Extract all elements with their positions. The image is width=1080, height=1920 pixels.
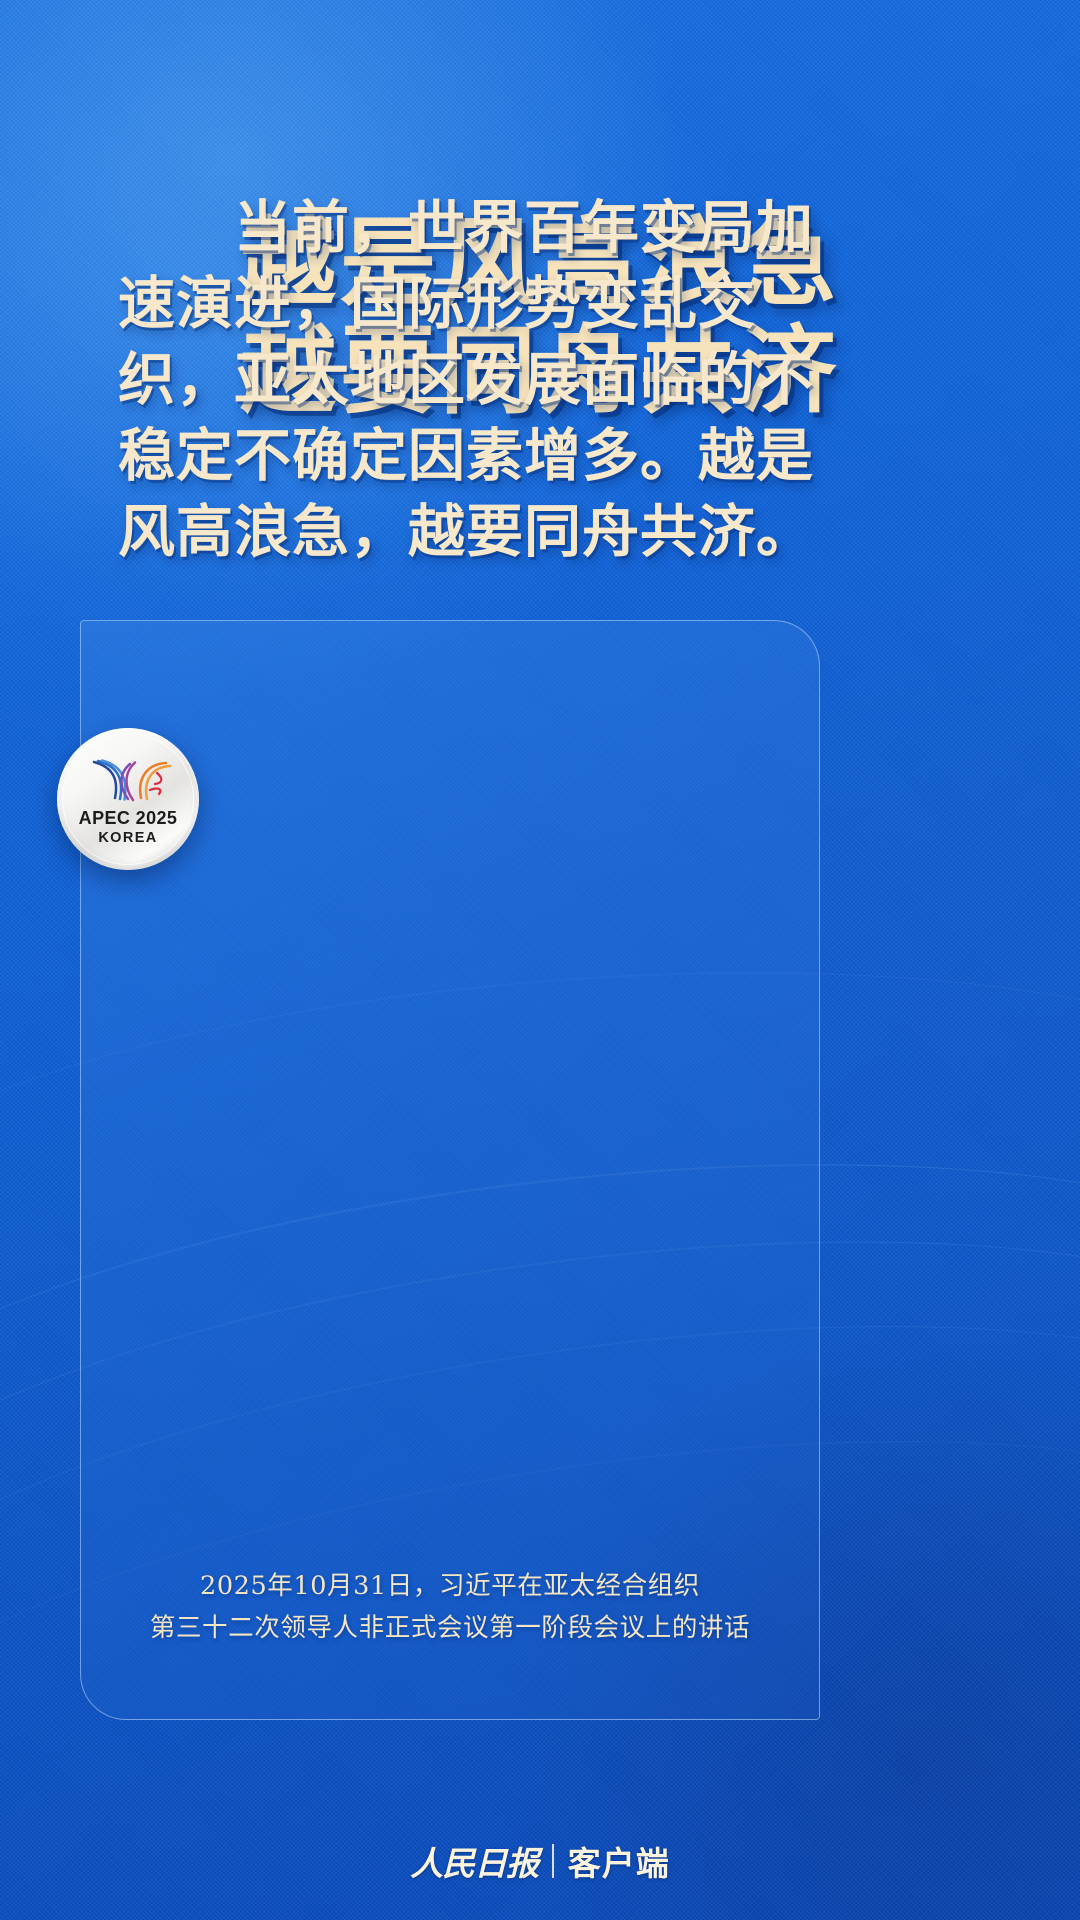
brand-masthead-text: 人民日报 bbox=[410, 1837, 538, 1885]
apec-2025-korea-badge: APEC 2025 KOREA bbox=[57, 728, 199, 870]
quote-line: 稳定不确定因素增多。越是 bbox=[118, 418, 758, 494]
brand-divider bbox=[552, 1844, 554, 1878]
quote-text-block: 当前，世界百年变局加 速演进，国际形势变乱交 织，亚太地区发展面临的不 稳定不确… bbox=[118, 190, 758, 570]
attribution-line-1: 2025年10月31日，习近平在亚太经合组织 bbox=[80, 1565, 820, 1607]
quote-line: 当前，世界百年变局加 bbox=[118, 190, 758, 266]
peoples-daily-footer-logo: 人民日报 客户端 bbox=[0, 1837, 1080, 1885]
apec-arcs-icon bbox=[82, 756, 174, 804]
brand-product-text: 客户端 bbox=[568, 1837, 670, 1885]
quote-line: 织，亚太地区发展面临的不 bbox=[118, 342, 758, 418]
quote-line: 风高浪急，越要同舟共济。 bbox=[118, 494, 758, 570]
quote-line: 速演进，国际形势变乱交 bbox=[118, 266, 758, 342]
attribution-line-2: 第三十二次领导人非正式会议第一阶段会议上的讲话 bbox=[80, 1607, 820, 1649]
quote-attribution: 2025年10月31日，习近平在亚太经合组织 第三十二次领导人非正式会议第一阶段… bbox=[80, 1565, 820, 1649]
poster-canvas: 越是风高浪急 越要同舟共济 APEC 2025 KOREA bbox=[0, 0, 1080, 1920]
apec-badge-name: APEC 2025 bbox=[79, 809, 178, 827]
apec-badge-country: KOREA bbox=[98, 831, 157, 846]
